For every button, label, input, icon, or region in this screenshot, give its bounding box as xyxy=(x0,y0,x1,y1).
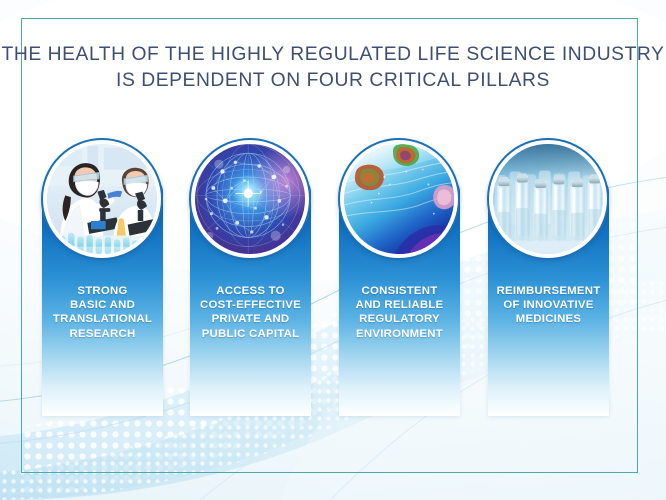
pillar-label: STRONG BASIC AND TRANSLATIONAL RESEARCH xyxy=(42,284,163,341)
pillar-image-medicine-vials-photo[interactable] xyxy=(487,138,609,260)
pillar-label-line: ENVIRONMENT xyxy=(342,327,457,341)
title-line-1: THE HEALTH OF THE HIGHLY REGULATED LIFE … xyxy=(0,42,666,68)
abstract-blue-world-map-photo xyxy=(344,144,454,254)
pillar-label: REIMBURSEMENT OF INNOVATIVE MEDICINES xyxy=(488,284,609,327)
pillar-label-line: PRIVATE AND xyxy=(193,312,308,326)
circle-image-frame xyxy=(493,144,603,254)
pillar-label-line: REGULATORY xyxy=(342,312,457,326)
pillar-label-line: MEDICINES xyxy=(491,312,606,326)
pillar-label-line: OF INNOVATIVE xyxy=(491,298,606,312)
lab-scientists-microscope-photo xyxy=(47,144,157,254)
circle-image-frame xyxy=(344,144,454,254)
pillar-label: CONSISTENT AND RELIABLE REGULATORY ENVIR… xyxy=(339,284,460,341)
pillar-label-line: REIMBURSEMENT xyxy=(491,284,606,298)
page-title: THE HEALTH OF THE HIGHLY REGULATED LIFE … xyxy=(0,42,666,94)
title-line-2: IS DEPENDENT ON FOUR CRITICAL PILLARS xyxy=(0,68,666,94)
circle-image-frame xyxy=(195,144,305,254)
pillar-label-line: STRONG xyxy=(45,284,160,298)
pillar-label-line: COST-EFFECTIVE xyxy=(193,298,308,312)
pillar-label-line: RESEARCH xyxy=(45,327,160,341)
circle-image-frame xyxy=(47,144,157,254)
digital-network-globe-photo xyxy=(195,144,305,254)
pillar-label-line: BASIC AND xyxy=(45,298,160,312)
pillar-image-lab-scientists-microscope-photo[interactable] xyxy=(41,138,163,260)
medicine-vials-photo xyxy=(493,144,603,254)
pillar-label-line: TRANSLATIONAL xyxy=(45,312,160,326)
pillar-image-abstract-blue-world-map-photo[interactable] xyxy=(338,138,460,260)
pillar-label-line: PUBLIC CAPITAL xyxy=(193,327,308,341)
slide-canvas: THE HEALTH OF THE HIGHLY REGULATED LIFE … xyxy=(0,0,666,500)
pillar-label-line: CONSISTENT xyxy=(342,284,457,298)
pillar-label: ACCESS TO COST-EFFECTIVE PRIVATE AND PUB… xyxy=(190,284,311,341)
pillar-image-digital-network-globe-photo[interactable] xyxy=(189,138,311,260)
pillar-label-line: AND RELIABLE xyxy=(342,298,457,312)
pillar-label-line: ACCESS TO xyxy=(193,284,308,298)
